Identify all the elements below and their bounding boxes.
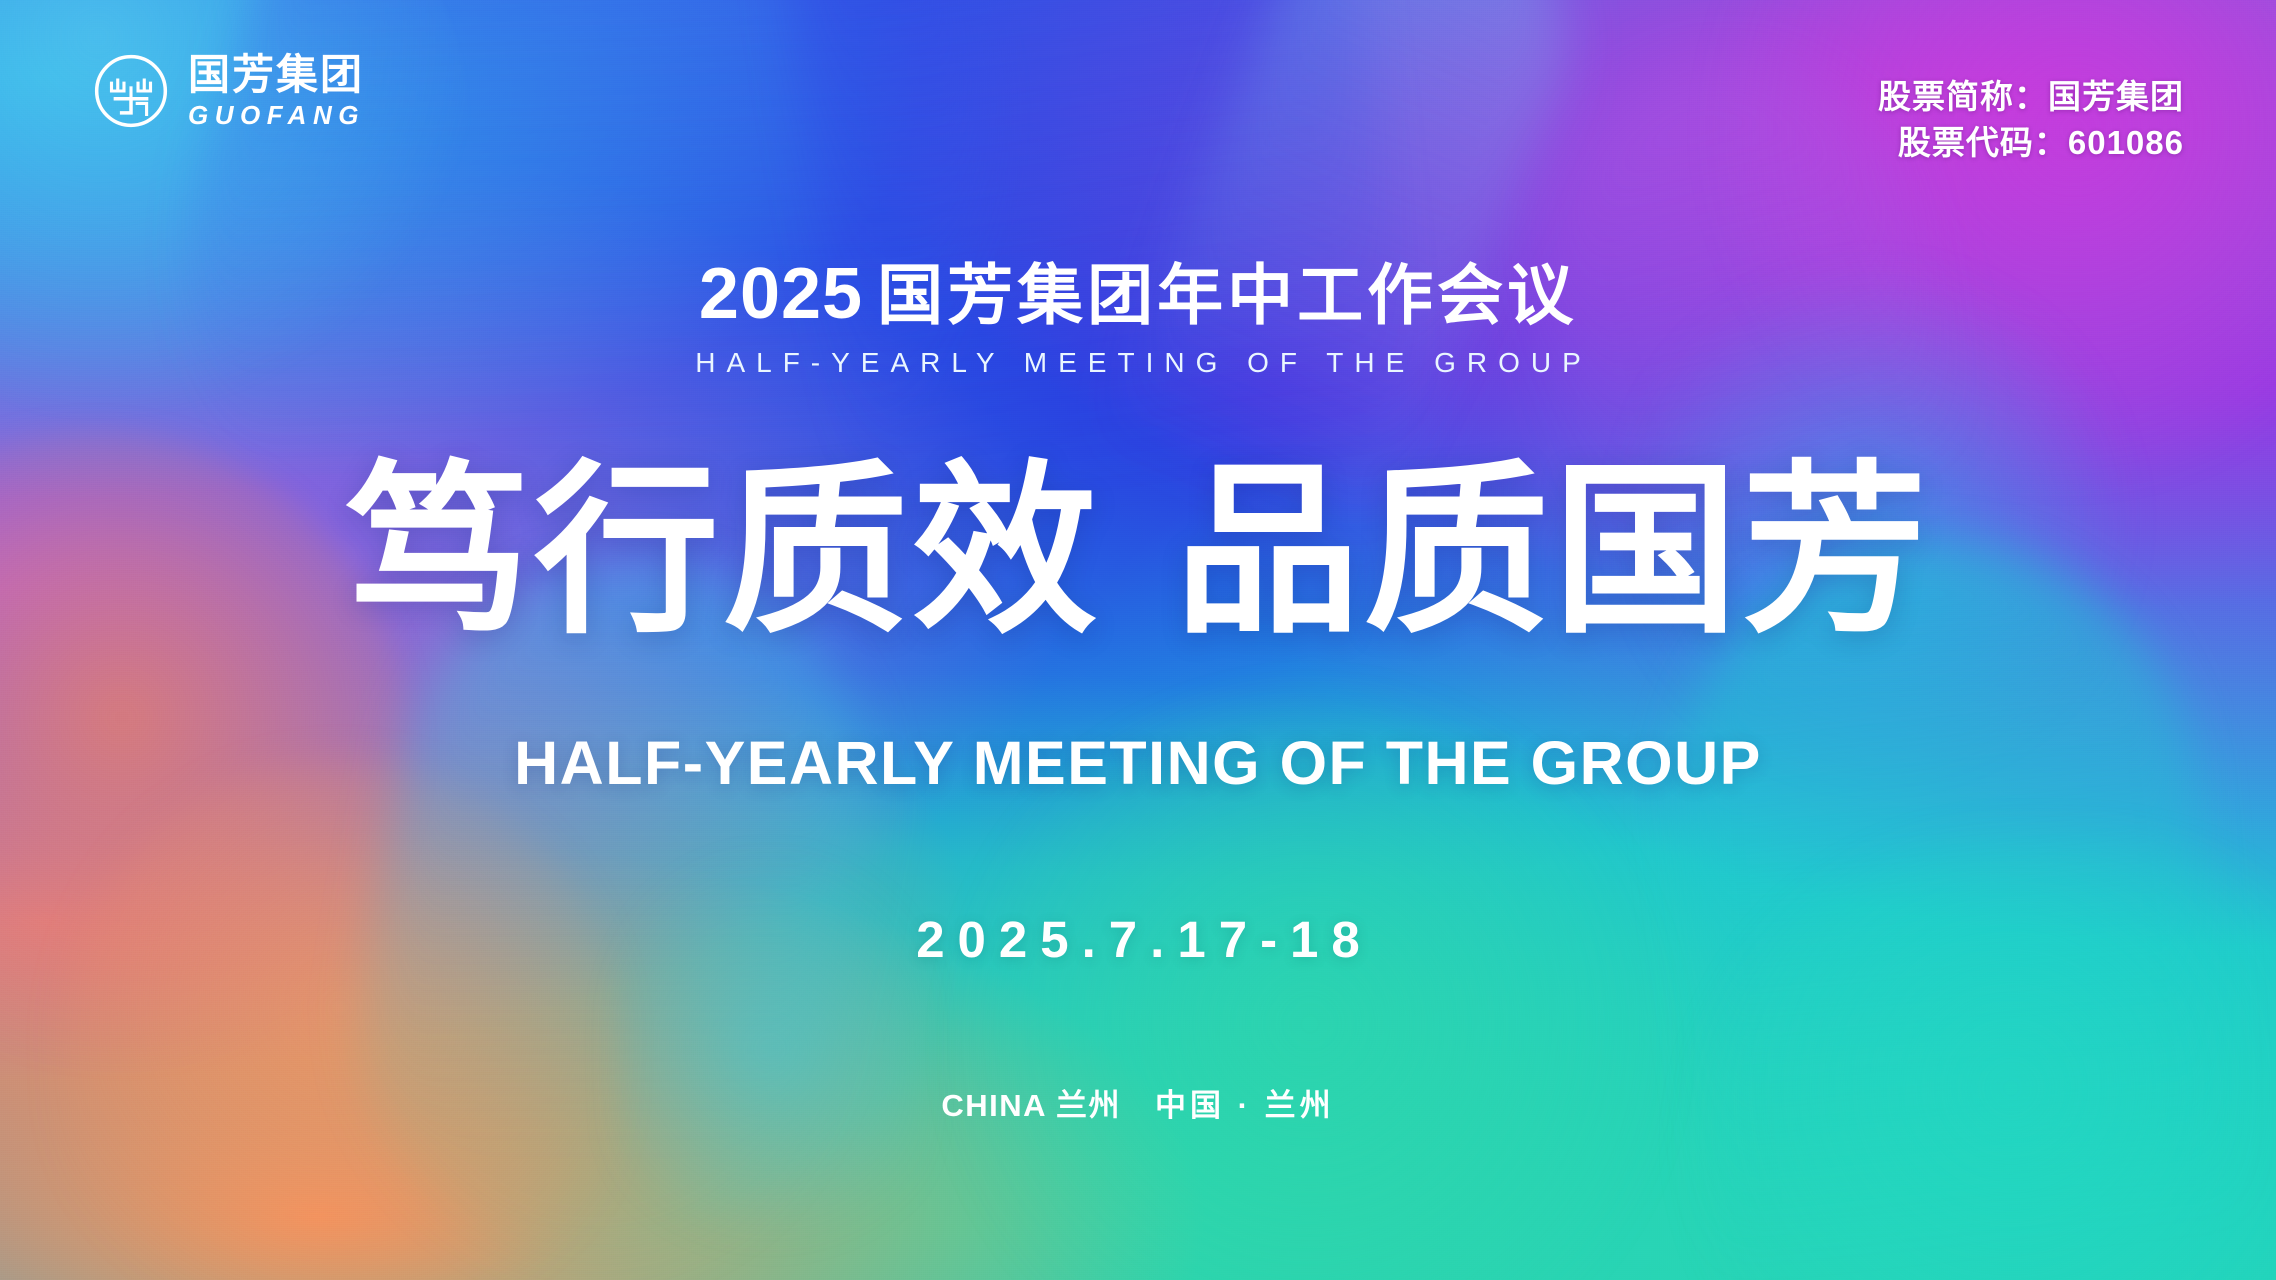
event-date: 2025.7.17-18 [0,910,2276,969]
stock-code-line: 股票代码：601086 [1878,120,2184,166]
slogan-part-1: 笃行质效 [345,449,1101,655]
brand-name-cn: 国芳集团 [188,54,365,96]
location-en: CHINA 兰州 [941,1088,1121,1123]
event-location: CHINA 兰州中国 · 兰州 [0,1080,2276,1125]
stock-info: 股票简称：国芳集团 股票代码：601086 [1878,74,2184,165]
slogan-english: HALF-YEARLY MEETING OF THE GROUP [0,728,2276,798]
poster-content: 国芳集团 GUOFANG 股票简称：国芳集团 股票代码：601086 2025国… [0,0,2276,1280]
meeting-subtitle-en: HALF-YEARLY MEETING OF THE GROUP [0,347,2276,379]
meeting-title-cn: 国芳集团年中工作会议 [877,258,1577,332]
brand-wordmark: 国芳集团 GUOFANG [188,54,365,128]
stock-name-line: 股票简称：国芳集团 [1878,74,2184,120]
location-cn: 中国 · 兰州 [1155,1088,1335,1123]
meeting-year: 2025 [699,254,863,334]
slogan-main: 笃行质效品质国芳 [0,460,2276,645]
guofang-circle-emblem-icon [92,52,170,130]
meeting-title-block: 2025国芳集团年中工作会议 HALF-YEARLY MEETING OF TH… [0,258,2276,379]
brand-logo: 国芳集团 GUOFANG [92,52,365,130]
event-poster: 国芳集团 GUOFANG 股票简称：国芳集团 股票代码：601086 2025国… [0,0,2276,1280]
slogan-part-2: 品质国芳 [1175,449,1931,655]
brand-name-en: GUOFANG [188,102,365,128]
meeting-title: 2025国芳集团年中工作会议 [0,258,2276,330]
